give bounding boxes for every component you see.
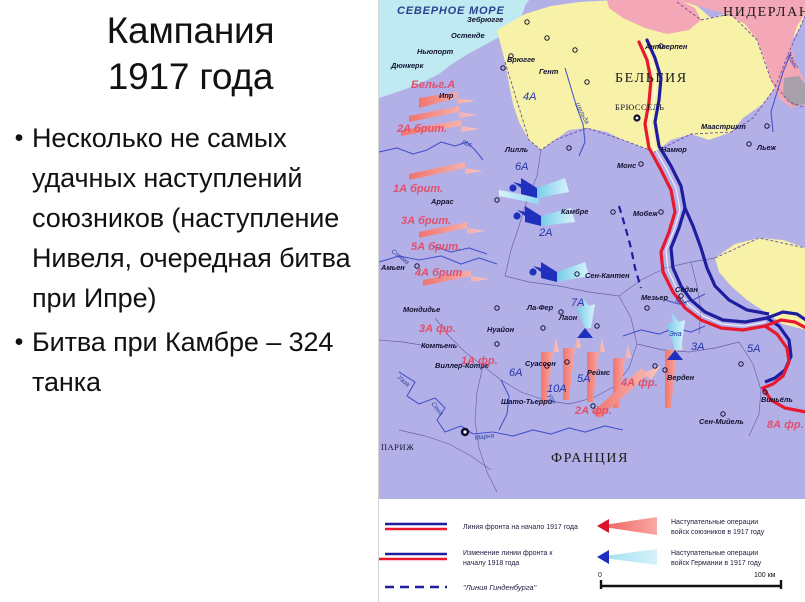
- map-label-city: Дюнкерк: [390, 61, 425, 70]
- map-label-city: Аррас: [430, 197, 454, 206]
- legend-label: началу 1918 года: [463, 560, 519, 567]
- map-label-allied-army: 2А брит.: [396, 123, 447, 135]
- map-label-city: Седан: [675, 285, 698, 294]
- map-label-city: Брюгге: [507, 55, 535, 64]
- bullet-text: Битва при Камбре – 324 танка: [32, 322, 374, 402]
- map-panel: СЕВЕРНОЕ МОРЕ НИДЕРЛАНДЫ БЕЛЬГИЯ ФРАНЦИЯ…: [378, 0, 805, 602]
- page-title: Кампания 1917 года: [18, 8, 363, 100]
- map-label-german-army: 4А: [523, 91, 536, 103]
- legend-label: войск Германии в 1917 году: [671, 559, 762, 567]
- map-label-city: Зебрюгге: [467, 15, 503, 24]
- map-label-city: Шато-Тьерри: [501, 397, 553, 406]
- map-label-allied-army: 8А фр.: [767, 419, 804, 431]
- map-label-german-army: 2А: [538, 227, 552, 239]
- map-label-city: Виньёль: [761, 395, 793, 404]
- map-label-city: Лаон: [558, 313, 578, 322]
- map-label-country-netherlands: НИДЕРЛАНДЫ: [723, 5, 805, 20]
- map-label-allied-army: 1А фр.: [461, 355, 498, 367]
- map-label-allied-army: 3А брит.: [401, 215, 451, 227]
- scale-min-label: 0: [598, 572, 602, 579]
- map-label-allied-army: 5А брит.: [411, 241, 461, 253]
- slide-text-column: Кампания 1917 года • Несколько не самых …: [0, 0, 378, 602]
- map-label-capital-paris: ПАРИЖ: [381, 443, 414, 452]
- map-label-city: Ла-Фер: [526, 303, 554, 312]
- map-label-country-belgium: БЕЛЬГИЯ: [615, 71, 688, 86]
- map-legend: Линия фронта на начало 1917 года Изменен…: [379, 499, 805, 602]
- bullet-list: • Несколько не самых удачных наступлений…: [6, 118, 374, 406]
- map-label-german-army: 5А: [747, 343, 760, 355]
- bullet-marker-icon: •: [6, 118, 32, 158]
- map-label-allied-army: 10А: [547, 383, 567, 395]
- map-label-city: Льеж: [756, 143, 776, 152]
- map-label-city: Камбре: [561, 207, 588, 216]
- map-label-allied-army: 4А брит: [414, 267, 462, 279]
- map-label-city: Мезьер: [641, 293, 669, 302]
- list-item: • Несколько не самых удачных наступлений…: [6, 118, 374, 318]
- map-label-city: Гент: [539, 67, 559, 76]
- title-line-2: 1917 года: [18, 54, 363, 100]
- map-label-german-army: 7А: [571, 297, 584, 309]
- map-label-city: Ипр: [439, 91, 454, 100]
- map-label-allied-army: 4А фр.: [620, 377, 658, 389]
- map-label-german-army: 3А: [691, 341, 704, 353]
- map-label-city: Мондидье: [403, 305, 440, 314]
- legend-label: "Линия Гинденбурга": [463, 583, 537, 592]
- map-label-river: Эна: [669, 331, 682, 338]
- legend-label: Наступательные операции: [671, 550, 758, 557]
- map-label-capital-brussels: БРЮССЕЛЬ: [615, 103, 665, 112]
- map-label-allied-army: 5А: [577, 373, 590, 385]
- map-label-city: Сен-Кантен: [585, 271, 630, 280]
- map-label-city: Суассон: [525, 359, 556, 368]
- map-label-allied-army: 1А брит.: [393, 183, 443, 195]
- map-label-city: Сен-Мийель: [699, 417, 744, 426]
- map-label-city: Монс: [617, 161, 636, 170]
- map-label-city: Лилль: [504, 145, 528, 154]
- map-label-city: Остенде: [451, 31, 485, 40]
- legend-label: войск союзников в 1917 году: [671, 528, 765, 536]
- map-label-allied-army: 6А: [509, 367, 522, 379]
- map-label-city: Компьень: [421, 341, 457, 350]
- map-label-german-army: 6А: [515, 161, 528, 173]
- title-line-1: Кампания: [18, 8, 363, 54]
- map-label-city: Маастрихт: [701, 122, 746, 131]
- map-label-city: Амьен: [380, 263, 405, 272]
- map-label-allied-army: 3А фр.: [419, 323, 456, 335]
- presentation-slide: Кампания 1917 года • Несколько не самых …: [0, 0, 805, 602]
- legend-label: Линия фронта на начало 1917 года: [463, 524, 578, 531]
- bullet-marker-icon: •: [6, 322, 32, 362]
- map-label-city: Верден: [667, 373, 695, 382]
- scale-max-label: 100 км: [754, 572, 776, 579]
- map-label-city: Ньюпорт: [417, 47, 454, 56]
- legend-label: Наступательные операции: [671, 519, 758, 526]
- map-label-city: Нуайон: [487, 325, 515, 334]
- bullet-text: Несколько не самых удачных наступлений с…: [32, 118, 374, 318]
- list-item: • Битва при Камбре – 324 танка: [6, 322, 374, 402]
- legend-label: Изменение линии фронта к: [463, 550, 553, 557]
- map-label-allied-army: 2А фр.: [574, 405, 612, 417]
- map-label-city: Антверпен: [644, 42, 688, 51]
- map-label-city: Намюр: [661, 145, 687, 154]
- map-label-allied-army: Бельг.А: [411, 79, 455, 91]
- map-label-city: Мобеж: [633, 209, 658, 218]
- map-image: СЕВЕРНОЕ МОРЕ НИДЕРЛАНДЫ БЕЛЬГИЯ ФРАНЦИЯ…: [379, 0, 805, 499]
- map-label-country-france: ФРАНЦИЯ: [551, 451, 629, 466]
